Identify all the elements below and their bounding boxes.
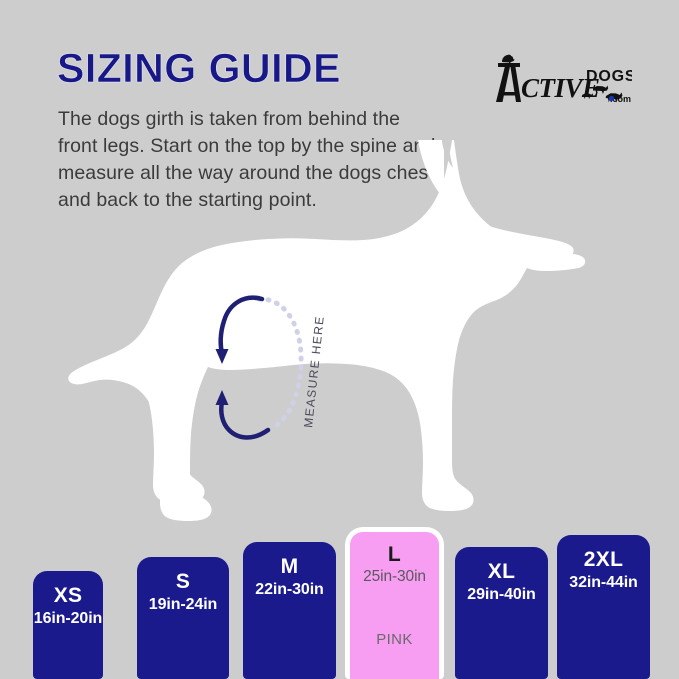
dog-silhouette-illustration: MEASURE HERE: [0, 140, 679, 530]
dog-body-shape: [68, 140, 585, 521]
size-label-s: S: [176, 571, 190, 593]
size-box-s[interactable]: S 19in-24in: [137, 557, 229, 679]
size-box-xs[interactable]: XS 16in-20in: [33, 571, 103, 679]
logo-blue-dot: [609, 96, 614, 101]
size-range-s: 19in-24in: [149, 595, 217, 614]
size-range-xs: 16in-20in: [34, 609, 102, 628]
size-range-2xl: 32in-44in: [569, 573, 637, 592]
logo-svg: CTIVE DOGS .com: [474, 52, 632, 108]
size-label-l: L: [388, 544, 401, 566]
logo-dogs-text: DOGS: [586, 68, 632, 85]
size-box-l[interactable]: L 25in-30in PINK: [345, 527, 444, 679]
size-range-m: 22in-30in: [255, 580, 323, 599]
size-range-l: 25in-30in: [363, 568, 426, 587]
girth-arrowhead-up: [216, 390, 229, 405]
size-range-xl: 29in-40in: [467, 585, 535, 604]
size-chart-row: XS 16in-20in S 19in-24in M 22in-30in L 2…: [0, 524, 679, 679]
size-label-xs: XS: [54, 585, 83, 607]
size-box-xl[interactable]: XL 29in-40in: [455, 547, 548, 679]
dog-diagram-svg: MEASURE HERE: [0, 140, 679, 530]
size-label-m: M: [281, 556, 299, 578]
sizing-guide-page: SIZING GUIDE The dogs girth is taken fro…: [0, 0, 679, 679]
size-box-2xl[interactable]: 2XL 32in-44in: [557, 535, 650, 679]
activedogs-logo: CTIVE DOGS .com: [474, 52, 632, 108]
page-title: SIZING GUIDE: [57, 48, 341, 89]
size-box-m[interactable]: M 22in-30in: [243, 542, 336, 679]
size-note-l: PINK: [376, 631, 413, 648]
size-label-2xl: 2XL: [584, 549, 623, 571]
size-label-xl: XL: [488, 561, 515, 583]
